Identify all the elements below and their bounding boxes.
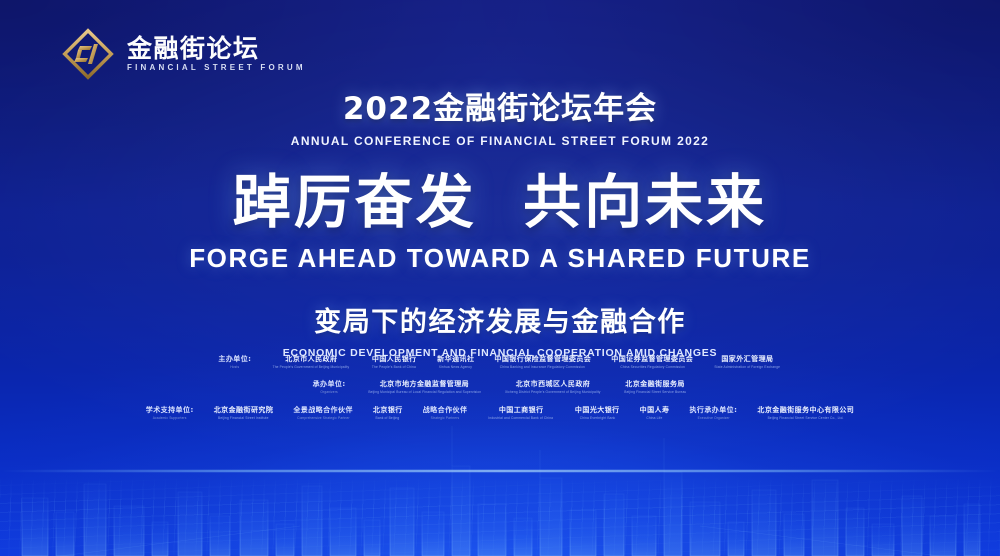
credit-name-en: China Everbright Bank xyxy=(579,417,615,420)
credit-name-cn: 北京银行 xyxy=(373,407,403,414)
credit-category-label: 承办单位:Organizers xyxy=(313,381,346,394)
organizer-credits: 主办单位:Hosts北京市人民政府The People's Government… xyxy=(0,356,1000,432)
credit-name-en: China Life xyxy=(646,417,662,420)
credit-name-en: Beijing Financial Street Institute xyxy=(218,417,268,420)
credit-name-cn: 北京金融街服务局 xyxy=(625,381,685,388)
credit-name-cn: 国家外汇管理局 xyxy=(721,356,773,363)
credit-name-cn: 中国工商银行 xyxy=(499,407,544,414)
credit-name-en: Organizers xyxy=(320,391,337,394)
credit-name-cn: 学术支持单位: xyxy=(146,407,194,414)
brand-logo: 金融街论坛 FINANCIAL STREET FORUM xyxy=(60,26,306,82)
credit-organization: 北京金融街研究院Beijing Financial Street Institu… xyxy=(214,407,274,420)
credit-name-cn: 执行承办单位: xyxy=(689,407,737,414)
credit-category-label: 全景战略合作伙伴Comprehensive Strategic Partner xyxy=(293,407,353,420)
credit-name-cn: 主办单位: xyxy=(218,356,251,363)
credit-row: 承办单位:Organizers北京市地方金融监督管理局Beijing Munic… xyxy=(0,381,1000,394)
credit-name-en: Xicheng District People's Government of … xyxy=(505,391,601,394)
credit-organization: 北京银行Bank of Beijing xyxy=(373,407,403,420)
credit-name-cn: 战略合作伙伴 xyxy=(423,407,468,414)
credit-name-en: Comprehensive Strategic Partner xyxy=(297,417,350,420)
credit-organization: 中国工商银行Industrial and Commercial Bank of … xyxy=(487,407,554,420)
credit-name-en: Strategic Partners xyxy=(431,417,460,420)
credit-name-cn: 北京市西城区人民政府 xyxy=(516,381,591,388)
credit-organization: 北京金融街服务局Beijing Financial Street Service… xyxy=(623,381,688,394)
credit-name-cn: 北京市人民政府 xyxy=(285,356,337,363)
credit-name-cn: 新华通讯社 xyxy=(437,356,474,363)
horizon-glow-line xyxy=(0,470,1000,472)
credit-name-cn: 中国证券监督管理委员会 xyxy=(611,356,693,363)
conference-title-cn: 2022金融街论坛年会 xyxy=(0,92,1000,127)
credit-name-en: State Administration of Foreign Exchange xyxy=(715,366,781,369)
conference-key-visual-poster: 金融街论坛 FINANCIAL STREET FORUM 2022金融街论坛年会… xyxy=(0,0,1000,556)
credit-name-cn: 北京金融街服务中心有限公司 xyxy=(757,407,854,414)
credit-name-cn: 北京金融街研究院 xyxy=(214,407,274,414)
credit-name-cn: 中国人寿 xyxy=(640,407,670,414)
hero-headline-block: 2022金融街论坛年会 ANNUAL CONFERENCE OF FINANCI… xyxy=(0,92,1000,359)
credit-name-cn: 承办单位: xyxy=(313,381,346,388)
credit-name-cn: 中国银行保险监督管理委员会 xyxy=(494,356,591,363)
perspective-grid-floor xyxy=(0,476,1000,556)
credit-organization: 北京金融街服务中心有限公司Beijing Financial Street Se… xyxy=(757,407,854,420)
credit-name-en: Xinhua News Agency xyxy=(439,366,472,369)
credit-organization: 中国银行保险监督管理委员会China Banking and Insurance… xyxy=(494,356,591,369)
credit-name-cn: 中国光大银行 xyxy=(575,407,620,414)
credit-name-cn: 中国人民银行 xyxy=(372,356,417,363)
credit-name-en: Beijing Financial Street Service Bureau xyxy=(624,391,686,394)
conference-title-en: ANNUAL CONFERENCE OF FINANCIAL STREET FO… xyxy=(0,134,1000,148)
credit-category-label: 主办单位:Hosts xyxy=(218,356,251,369)
credit-organization: 北京市人民政府The People's Government of Beijin… xyxy=(271,356,351,369)
credit-name-en: Hosts xyxy=(230,366,239,369)
credit-name-en: Beijing Financial Street Service Center … xyxy=(768,417,844,420)
credit-name-cn: 全景战略合作伙伴 xyxy=(293,407,353,414)
credit-name-en: Bank of Beijing xyxy=(376,417,400,420)
credit-name-en: Executive Organizer xyxy=(697,417,729,420)
subtitle-cn: 变局下的经济发展与金融合作 xyxy=(0,300,1000,339)
credit-category-label: 战略合作伙伴Strategic Partners xyxy=(423,407,468,420)
credit-category-label: 学术支持单位:Academic Supporters xyxy=(146,407,194,420)
brand-name-en: FINANCIAL STREET FORUM xyxy=(127,64,306,72)
slogan-cn: 踔厉奋发 共向未来 xyxy=(0,172,1000,233)
credit-name-en: The People's Bank of China xyxy=(372,366,416,369)
credit-name-en: China Banking and Insurance Regulatory C… xyxy=(500,366,585,369)
credit-name-en: China Securities Regulatory Commission xyxy=(620,366,685,369)
credit-organization: 中国人寿China Life xyxy=(640,407,670,420)
credit-organization: 北京市地方金融监督管理局Beijing Municipal Bureau of … xyxy=(366,381,484,394)
slogan-en: FORGE AHEAD TOWARD A SHARED FUTURE xyxy=(0,243,1000,274)
credit-name-cn: 北京市地方金融监督管理局 xyxy=(380,381,469,388)
credit-row: 学术支持单位:Academic Supporters北京金融街研究院Beijin… xyxy=(0,407,1000,420)
credit-organization: 中国光大银行China Everbright Bank xyxy=(575,407,620,420)
credit-organization: 北京市西城区人民政府Xicheng District People's Gove… xyxy=(503,381,603,394)
credit-organization: 中国证券监督管理委员会China Securities Regulatory C… xyxy=(611,356,693,369)
credit-name-en: Beijing Municipal Bureau of Local Financ… xyxy=(368,391,481,394)
credit-name-en: Academic Supporters xyxy=(153,417,187,420)
credit-organization: 中国人民银行The People's Bank of China xyxy=(371,356,417,369)
credit-organization: 国家外汇管理局State Administration of Foreign E… xyxy=(713,356,781,369)
brand-name-cn: 金融街论坛 xyxy=(127,36,306,61)
credit-name-en: The People's Government of Beijing Munic… xyxy=(273,366,350,369)
credit-category-label: 执行承办单位:Executive Organizer xyxy=(689,407,737,420)
brand-wordmark: 金融街论坛 FINANCIAL STREET FORUM xyxy=(127,36,306,72)
credit-name-en: Industrial and Commercial Bank of China xyxy=(489,417,554,420)
credit-row: 主办单位:Hosts北京市人民政府The People's Government… xyxy=(0,356,1000,369)
credit-organization: 新华通讯社Xinhua News Agency xyxy=(437,356,474,369)
financial-street-forum-diamond-logo-icon xyxy=(60,26,116,82)
